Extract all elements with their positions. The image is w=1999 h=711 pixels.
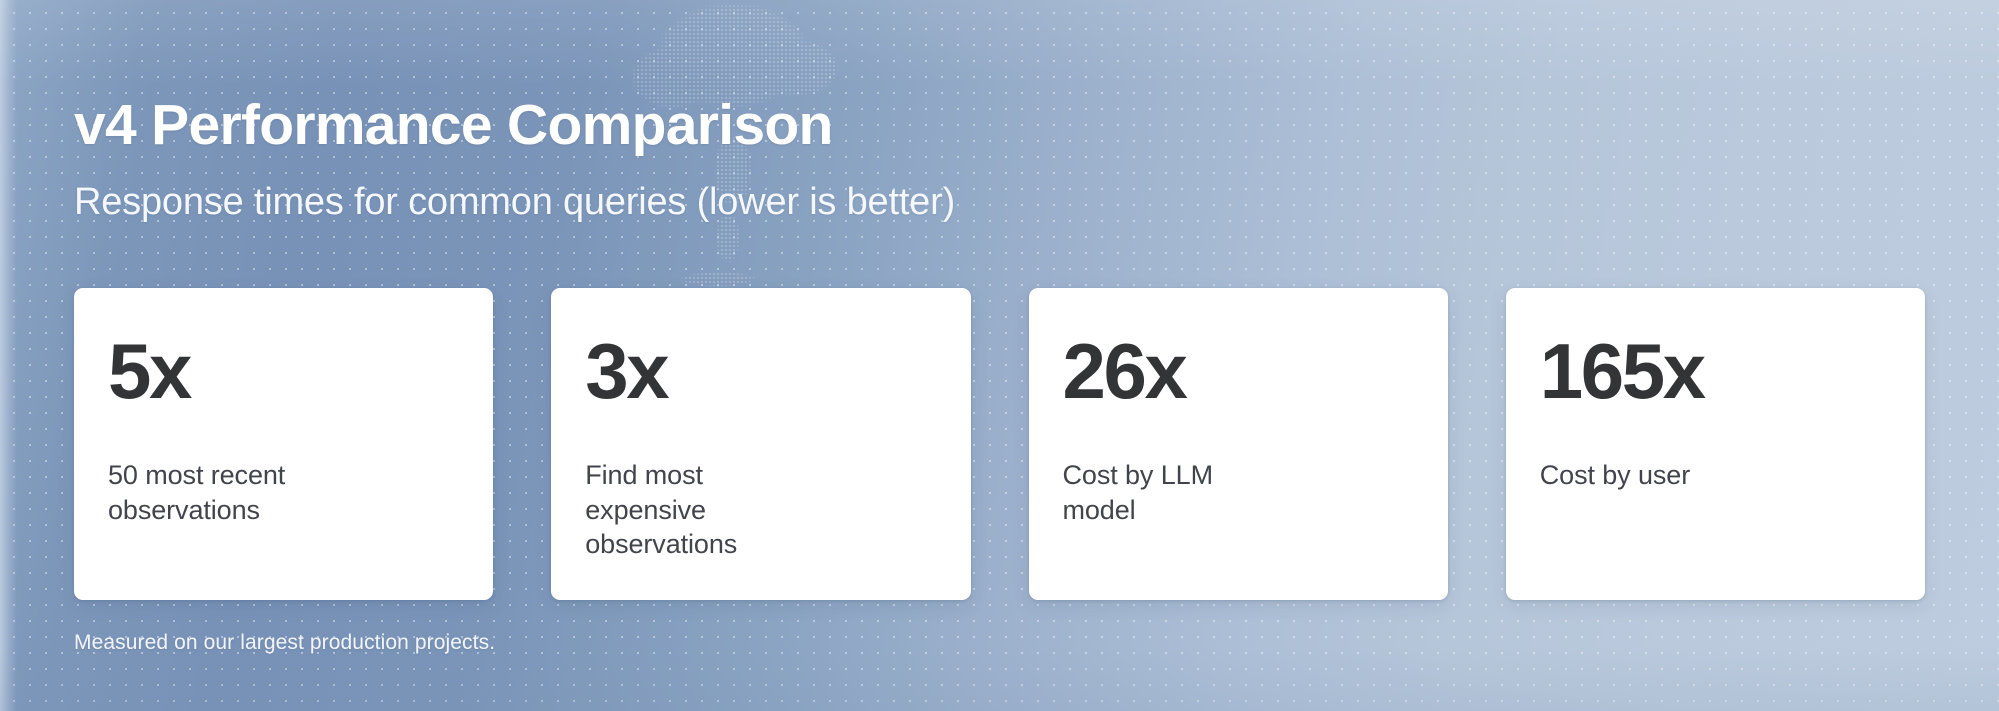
metric-card: 26x Cost by LLM model xyxy=(1029,288,1448,600)
metric-card: 3x Find most expensive observations xyxy=(551,288,970,600)
metric-label: Cost by LLM model xyxy=(1063,458,1273,527)
metric-value: 3x xyxy=(585,332,936,410)
footnote: Measured on our largest production proje… xyxy=(74,631,495,655)
banner-content: v4 Performance Comparison Response times… xyxy=(0,0,1999,711)
metric-value: 26x xyxy=(1063,332,1414,410)
metric-card: 5x 50 most recent observations xyxy=(74,288,493,600)
metric-value: 165x xyxy=(1540,332,1891,410)
metric-label: 50 most recent observations xyxy=(108,458,318,527)
page-title: v4 Performance Comparison xyxy=(74,96,833,156)
metric-label: Find most expensive observations xyxy=(585,458,795,562)
metric-value: 5x xyxy=(108,332,459,410)
metric-label: Cost by user xyxy=(1540,458,1750,493)
page-subtitle: Response times for common queries (lower… xyxy=(74,180,955,226)
metric-card-list: 5x 50 most recent observations 3x Find m… xyxy=(74,288,1925,600)
metric-card: 165x Cost by user xyxy=(1506,288,1925,600)
performance-comparison-banner: v4 Performance Comparison Response times… xyxy=(0,0,1999,711)
